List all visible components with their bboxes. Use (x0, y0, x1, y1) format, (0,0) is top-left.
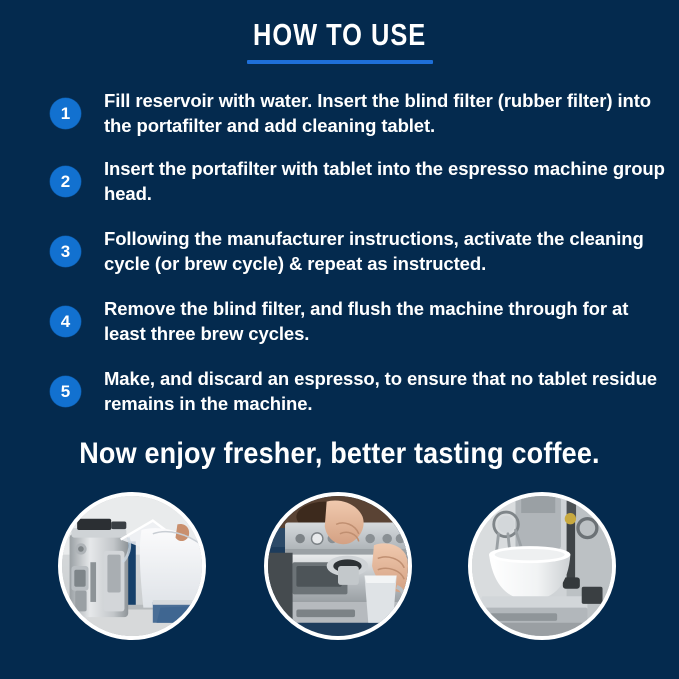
list-item: 2 Insert the portafilter with tablet int… (50, 156, 670, 206)
list-item: 4 Remove the blind filter, and flush the… (50, 296, 670, 346)
step-text: Make, and discard an espresso, to ensure… (104, 366, 670, 416)
list-item: 5 Make, and discard an espresso, to ensu… (50, 366, 670, 416)
list-item: 3 Following the manufacturer instruction… (50, 226, 670, 276)
step-number-badge: 4 (50, 306, 81, 337)
header: HOW TO USE (0, 18, 679, 64)
step-number-badge: 5 (50, 376, 81, 407)
step-text: Fill reservoir with water. Insert the bl… (104, 88, 670, 138)
list-item: 1 Fill reservoir with water. Insert the … (50, 88, 670, 138)
portafilter-insert-photo (264, 492, 412, 640)
photo-scene (268, 496, 408, 636)
photo-scene (472, 496, 612, 636)
step-text: Insert the portafilter with tablet into … (104, 156, 670, 206)
page-title: HOW TO USE (253, 18, 426, 52)
filling-reservoir-photo (58, 492, 206, 640)
how-to-use-panel: HOW TO USE 1 Fill reservoir with water. … (0, 0, 679, 679)
steps-list: 1 Fill reservoir with water. Insert the … (50, 88, 670, 416)
tagline: Now enjoy fresher, better tasting coffee… (34, 436, 645, 472)
title-underline (247, 60, 433, 64)
step-number-badge: 2 (50, 166, 81, 197)
step-text: Following the manufacturer instructions,… (104, 226, 670, 276)
photo-strip (0, 492, 679, 642)
step-number-badge: 3 (50, 236, 81, 267)
photo-scene (62, 496, 202, 636)
espresso-cup-photo (468, 492, 616, 640)
step-number-badge: 1 (50, 98, 81, 129)
step-text: Remove the blind filter, and flush the m… (104, 296, 670, 346)
